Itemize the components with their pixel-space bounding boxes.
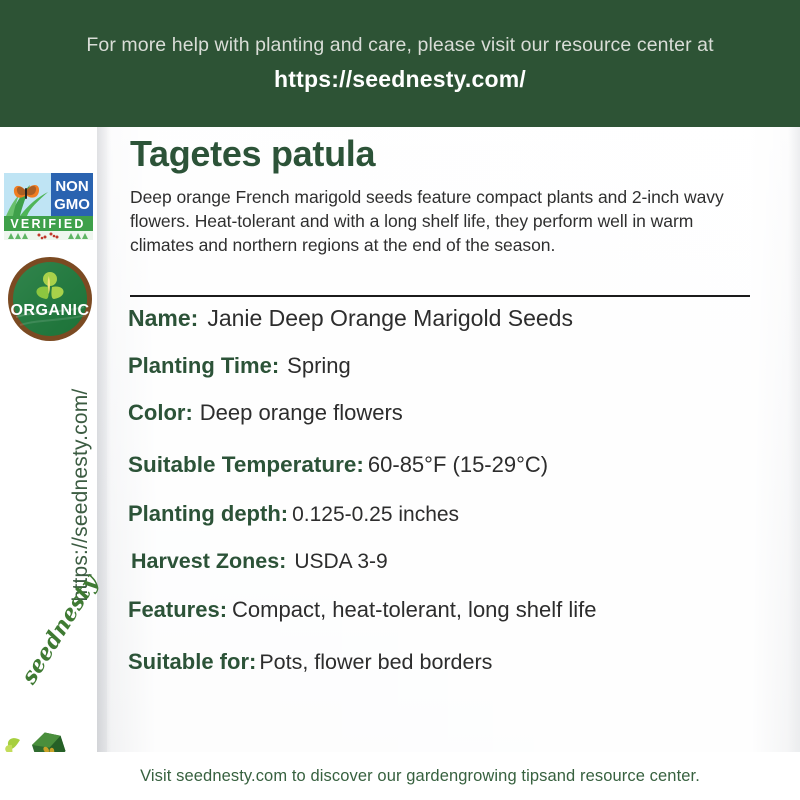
svg-text:GMO: GMO — [54, 196, 90, 213]
detail-row-planting-time: Planting Time: Spring — [128, 355, 788, 377]
detail-label: Planting depth: — [128, 503, 288, 525]
detail-row-name: Name: Janie Deep Orange Marigold Seeds — [128, 307, 788, 330]
detail-label: Name: — [128, 307, 198, 330]
product-content: Tagetes patula Deep orange French marigo… — [130, 135, 770, 257]
seednesty-brand-logo: seednesty — [2, 657, 94, 767]
detail-value: Spring — [287, 355, 351, 377]
detail-label: Harvest Zones: — [131, 551, 286, 573]
svg-text:NON: NON — [55, 178, 88, 195]
detail-label: Features: — [128, 599, 227, 621]
detail-value: 60-85°F (15-29°C) — [368, 454, 548, 476]
footer-bar: Visit seednesty.com to discover our gard… — [0, 752, 800, 800]
detail-value: Deep orange flowers — [200, 402, 403, 424]
detail-value: Compact, heat-tolerant, long shelf life — [232, 599, 596, 621]
organic-certified-icon: ORGANIC — [6, 255, 94, 343]
panel-right-edge — [788, 127, 800, 752]
header-help-text: For more help with planting and care, pl… — [62, 34, 737, 57]
product-description: Deep orange French marigold seeds featur… — [130, 185, 750, 257]
detail-label: Planting Time: — [128, 355, 279, 377]
detail-value: Janie Deep Orange Marigold Seeds — [207, 307, 573, 330]
header-website-url[interactable]: https://seednesty.com/ — [274, 66, 526, 93]
detail-row-planting-depth: Planting depth: 0.125-0.25 inches — [128, 503, 788, 525]
footer-text: Visit seednesty.com to discover our gard… — [100, 767, 700, 786]
detail-row-color: Color: Deep orange flowers — [128, 402, 788, 424]
header-banner: For more help with planting and care, pl… — [0, 0, 800, 127]
detail-list: Name: Janie Deep Orange Marigold Seeds P… — [128, 307, 788, 674]
detail-value: Pots, flower bed borders — [259, 652, 492, 674]
page-title: Tagetes patula — [130, 135, 770, 173]
left-rail: NON GMO VERIFIED — [0, 127, 97, 800]
detail-label: Suitable for: — [128, 651, 256, 673]
detail-row-suitable-for: Suitable for: Pots, flower bed borders — [128, 651, 788, 674]
detail-label: Suitable Temperature: — [128, 454, 364, 477]
detail-value: USDA 3-9 — [294, 551, 387, 572]
non-gmo-verified-icon: NON GMO VERIFIED — [3, 172, 94, 241]
detail-label: Color: — [128, 402, 193, 424]
panel-left-shadow — [97, 127, 111, 752]
svg-text:VERIFIED: VERIFIED — [10, 217, 85, 231]
detail-row-harvest-zones: Harvest Zones: USDA 3-9 — [131, 551, 788, 573]
section-divider — [130, 295, 750, 297]
detail-value: 0.125-0.25 inches — [292, 504, 459, 525]
detail-row-features: Features: Compact, heat-tolerant, long s… — [128, 599, 788, 621]
detail-row-suitable-temperature: Suitable Temperature: 60-85°F (15-29°C) — [128, 454, 788, 477]
